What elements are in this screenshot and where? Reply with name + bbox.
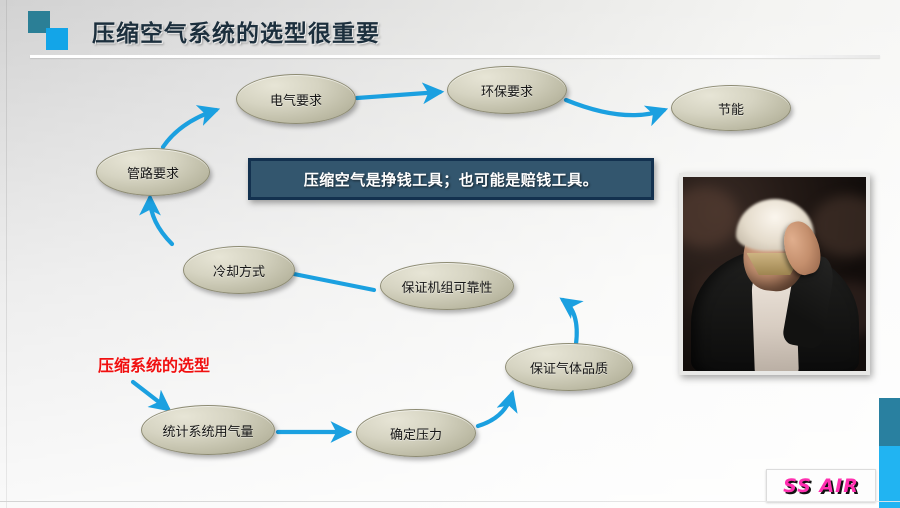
- node-jieneng[interactable]: 节能: [671, 85, 791, 131]
- node-tongji[interactable]: 统计系统用气量: [141, 405, 275, 455]
- arrow-lengque-to-guanlu: [150, 198, 172, 244]
- callout-label: 压缩系统的选型: [98, 352, 210, 376]
- logo-text: SS AIR: [783, 475, 859, 497]
- node-guanlu[interactable]: 管路要求: [96, 148, 210, 196]
- arrow-guanlu-to-dianqi: [163, 110, 216, 147]
- edge-bar-bottom: [879, 446, 900, 508]
- banner-text: 压缩空气是挣钱工具；也可能是赔钱工具。: [304, 169, 599, 190]
- header-square-bright: [46, 28, 68, 50]
- arrow-dianqi-to-huanbao: [357, 92, 440, 98]
- arrow-huanbao-to-jieneng: [566, 100, 664, 115]
- node-huanbao[interactable]: 环保要求: [447, 66, 567, 114]
- slide-canvas: 压缩空气系统的选型很重要: [0, 0, 900, 508]
- photo-frame: [679, 173, 870, 375]
- node-kekao[interactable]: 保证机组可靠性: [380, 262, 514, 310]
- node-pinzhi[interactable]: 保证气体品质: [505, 343, 633, 391]
- highlight-banner: 压缩空气是挣钱工具；也可能是赔钱工具。: [248, 158, 654, 200]
- node-yali[interactable]: 确定压力: [356, 409, 476, 457]
- header-divider: [30, 55, 880, 58]
- node-lengque[interactable]: 冷却方式: [183, 246, 295, 294]
- photo-image: [683, 177, 866, 371]
- arrow-callout-to-tongji: [133, 382, 168, 409]
- edge-bar-top: [879, 398, 900, 446]
- edge-accent-bar: [879, 398, 900, 508]
- node-dianqi[interactable]: 电气要求: [236, 74, 356, 124]
- arrow-yali-to-pinzhi: [478, 394, 512, 426]
- arrow-pinzhi-to-kekao: [563, 300, 577, 344]
- page-title: 压缩空气系统的选型很重要: [92, 14, 380, 48]
- logo-badge[interactable]: SS AIR: [766, 469, 876, 502]
